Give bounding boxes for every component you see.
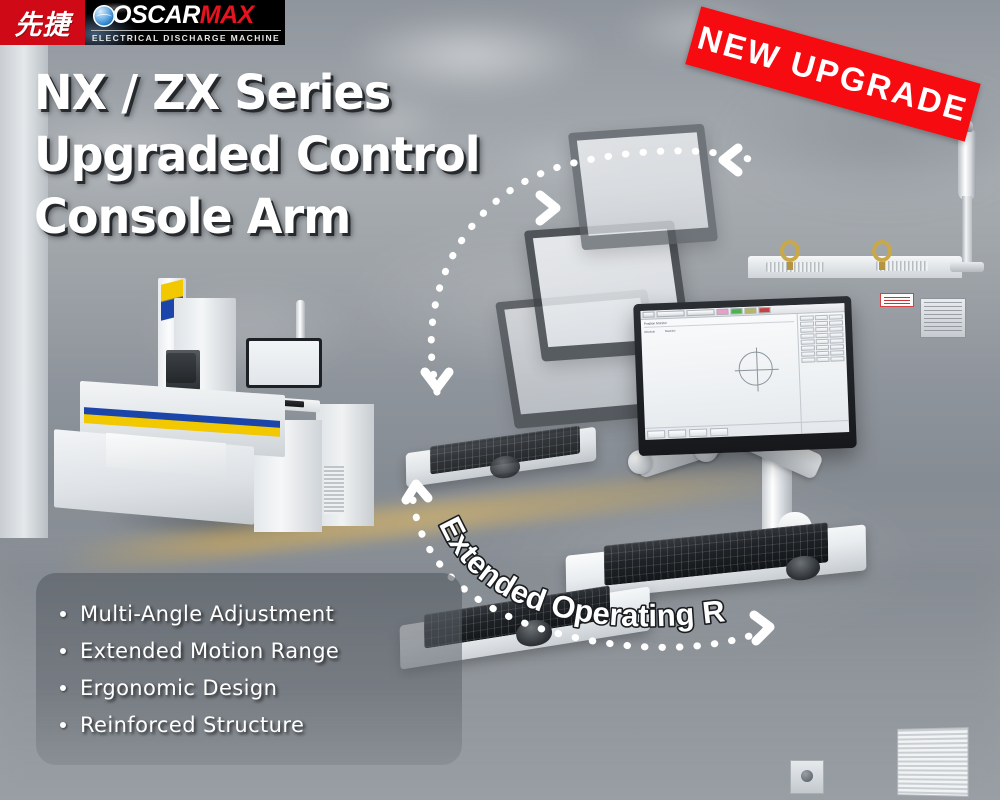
softkey xyxy=(815,339,829,345)
machine-monitor xyxy=(246,338,322,388)
logo-chinese-text: 先捷 xyxy=(15,3,71,42)
promotional-banner: Position Monitor Absolute Machine xyxy=(0,0,1000,800)
softkey xyxy=(800,315,814,321)
cabinet-door-latch xyxy=(790,760,824,794)
softkey xyxy=(816,345,830,351)
feature-item-3: Reinforced Structure xyxy=(60,706,462,743)
feature-item-2: Ergonomic Design xyxy=(60,669,462,706)
softkey xyxy=(830,338,844,344)
softkey xyxy=(801,351,815,357)
machine-vent-grille xyxy=(324,466,344,514)
softkey xyxy=(830,350,844,356)
screen-position-panel: Position Monitor Absolute Machine xyxy=(641,314,801,440)
cabinet-top-vent xyxy=(766,262,824,272)
lifting-eyebolt-icon-2 xyxy=(872,240,892,262)
softkey xyxy=(815,321,829,327)
softkey xyxy=(814,315,828,321)
wire-edm-machine xyxy=(48,278,388,550)
function-key xyxy=(668,429,686,438)
toolbar-button xyxy=(642,311,654,317)
function-key xyxy=(647,430,665,439)
toolbar-status-green xyxy=(730,308,742,314)
cnc-control-screen: Position Monitor Absolute Machine xyxy=(640,303,849,440)
softkey xyxy=(800,333,814,339)
warning-label xyxy=(880,293,914,307)
function-key xyxy=(710,428,728,437)
globe-icon xyxy=(93,5,115,27)
softkey xyxy=(829,320,843,326)
bullet-dot-icon xyxy=(60,685,66,691)
page-title: NX / ZX Series Upgraded Control Console … xyxy=(34,62,498,248)
brand-logo[interactable]: 先捷 OSCAR MAX ELECTRICAL DISCHARGE MACHIN… xyxy=(0,0,285,45)
cabinet-vent-grille xyxy=(897,727,968,797)
softkey xyxy=(801,345,815,351)
softkey xyxy=(830,332,844,338)
softkey xyxy=(801,357,815,363)
softkey xyxy=(816,357,830,363)
feature-item-1: Extended Motion Range xyxy=(60,632,462,669)
logo-tagline: ELECTRICAL DISCHARGE MACHINE xyxy=(91,30,281,43)
softkey xyxy=(800,327,814,333)
work-lamp-base xyxy=(950,262,984,272)
bullet-dot-icon xyxy=(60,611,66,617)
softkey xyxy=(829,326,843,332)
screen-crosshair-icon xyxy=(738,351,773,386)
softkey xyxy=(815,333,829,339)
lifting-eyebolt-icon xyxy=(780,240,800,262)
toolbar-field xyxy=(656,310,684,317)
bullet-dot-icon xyxy=(60,722,66,728)
screen-col-machine: Machine xyxy=(665,329,676,333)
main-control-monitor: Position Monitor Absolute Machine xyxy=(633,296,857,456)
softkey xyxy=(801,339,815,345)
machine-spindle xyxy=(166,353,196,383)
monitor-ghost-upper xyxy=(568,124,718,251)
logo-primary-text: OSCAR xyxy=(112,1,200,30)
screen-softkey-pad xyxy=(797,312,850,434)
softkey xyxy=(831,356,845,362)
feature-label-2: Ergonomic Design xyxy=(80,676,277,700)
softkey xyxy=(829,314,843,320)
toolbar-field-2 xyxy=(686,309,714,316)
softkey xyxy=(800,321,814,327)
toolbar-status-red xyxy=(758,307,770,313)
softkey xyxy=(815,327,829,333)
headline-line-2: Upgraded Control xyxy=(34,124,480,186)
feature-label-1: Extended Motion Range xyxy=(80,639,339,663)
headline-line-3: Console Arm xyxy=(34,186,480,248)
bullet-dot-icon xyxy=(60,648,66,654)
softkey xyxy=(830,344,844,350)
feature-list-panel: Multi-Angle Adjustment Extended Motion R… xyxy=(36,573,462,765)
softkey xyxy=(816,351,830,357)
feature-label-3: Reinforced Structure xyxy=(80,713,304,737)
machine-nameplate xyxy=(920,298,966,338)
toolbar-status-pink xyxy=(716,309,728,315)
feature-item-0: Multi-Angle Adjustment xyxy=(60,595,462,632)
logo-wordmark: OSCAR MAX xyxy=(91,2,285,29)
work-lamp-post xyxy=(962,196,972,268)
logo-accent-text: MAX xyxy=(200,1,254,30)
feature-label-0: Multi-Angle Adjustment xyxy=(80,602,334,626)
toolbar-status-olive xyxy=(744,308,756,314)
function-key xyxy=(689,428,707,437)
logo-chinese-block: 先捷 xyxy=(0,0,85,45)
headline-line-1: NX / ZX Series xyxy=(34,62,480,124)
logo-english-block: OSCAR MAX ELECTRICAL DISCHARGE MACHINE xyxy=(85,0,285,45)
screen-col-absolute: Absolute xyxy=(644,329,655,333)
